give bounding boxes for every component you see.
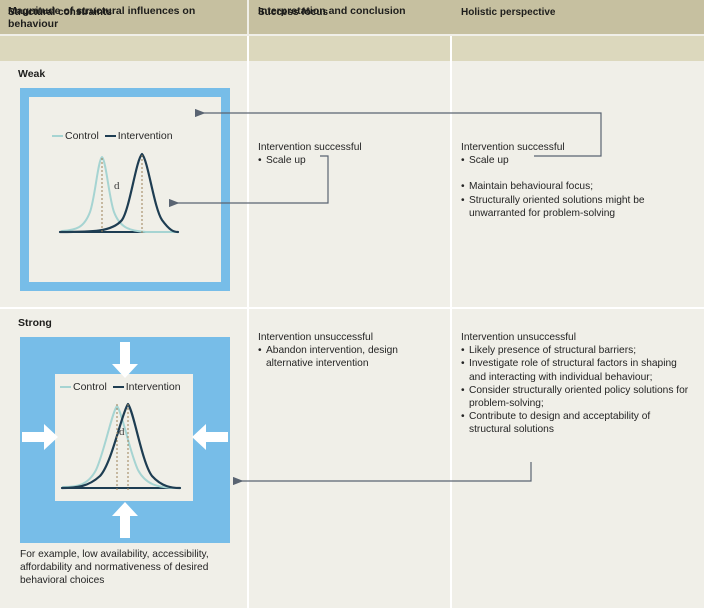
weak-effect-size-label: d (114, 180, 120, 192)
control-legend-line-icon (52, 135, 63, 137)
strong-chart-legend: Control Intervention (60, 381, 181, 393)
weak-success-bullets: Scale up (258, 154, 438, 167)
weak-holistic-text: Intervention successful Scale up Maintai… (461, 141, 689, 220)
figure-root: Magnitude of structural influences on be… (0, 0, 704, 608)
column-divider-2 (450, 36, 452, 608)
subheader-label-structural: Structural constraints (8, 7, 112, 18)
weak-success-text: Intervention successful Scale up (258, 141, 438, 167)
intervention-legend-line-icon (105, 135, 116, 137)
strong-legend-intervention-label: Intervention (126, 381, 181, 393)
list-item: Scale up (258, 154, 438, 167)
row-divider-weak-strong (0, 307, 704, 309)
row-label-strong: Strong (18, 317, 52, 329)
subheader-cell-holistic (452, 36, 704, 61)
list-item: Maintain behavioural focus; (461, 180, 689, 193)
strong-caption: For example, low availability, accessibi… (20, 548, 235, 588)
weak-holistic-bullets-top: Scale up (461, 154, 689, 167)
list-item: Investigate role of structural factors i… (461, 357, 691, 383)
weak-chart-panel (29, 97, 221, 282)
strong-holistic-text: Intervention unsuccessful Likely presenc… (461, 331, 691, 437)
list-item: Abandon intervention, design alternative… (258, 344, 444, 370)
weak-holistic-headline: Intervention successful (461, 141, 689, 154)
weak-chart-legend: Control Intervention (52, 130, 173, 142)
list-item: Consider structurally oriented policy so… (461, 384, 691, 410)
connector-holistic-to-strong-box (234, 462, 531, 481)
header-sub-band (0, 36, 704, 61)
strong-holistic-bullets: Likely presence of structural barriers; … (461, 344, 691, 436)
list-item: Likely presence of structural barriers; (461, 344, 691, 357)
intervention-legend-line-icon (113, 386, 124, 388)
subheader-cell-structural (0, 36, 247, 61)
weak-success-headline: Intervention successful (258, 141, 438, 154)
subheader-label-holistic: Holistic perspective (461, 7, 555, 18)
weak-constraint-box (20, 88, 230, 291)
weak-holistic-bullets-bottom: Maintain behavioural focus; Structurally… (461, 180, 689, 220)
subheader-label-success: Success focus (258, 7, 328, 18)
control-legend-line-icon (60, 386, 71, 388)
list-item: Scale up (461, 154, 689, 167)
strong-holistic-headline: Intervention unsuccessful (461, 331, 691, 344)
strong-legend-control-label: Control (73, 381, 107, 393)
strong-success-text: Intervention unsuccessful Abandon interv… (258, 331, 444, 371)
spacer (461, 167, 689, 180)
list-item: Structurally oriented solutions might be… (461, 194, 689, 220)
strong-success-headline: Intervention unsuccessful (258, 331, 444, 344)
column-divider-1 (247, 36, 249, 608)
strong-constraint-box (20, 337, 230, 543)
weak-legend-intervention-label: Intervention (118, 130, 173, 142)
strong-success-bullets: Abandon intervention, design alternative… (258, 344, 444, 370)
strong-effect-size-label: d (119, 426, 125, 438)
list-item: Contribute to design and acceptability o… (461, 410, 691, 436)
subheader-cell-success (249, 36, 450, 61)
weak-legend-control-label: Control (65, 130, 99, 142)
row-label-weak: Weak (18, 68, 45, 80)
